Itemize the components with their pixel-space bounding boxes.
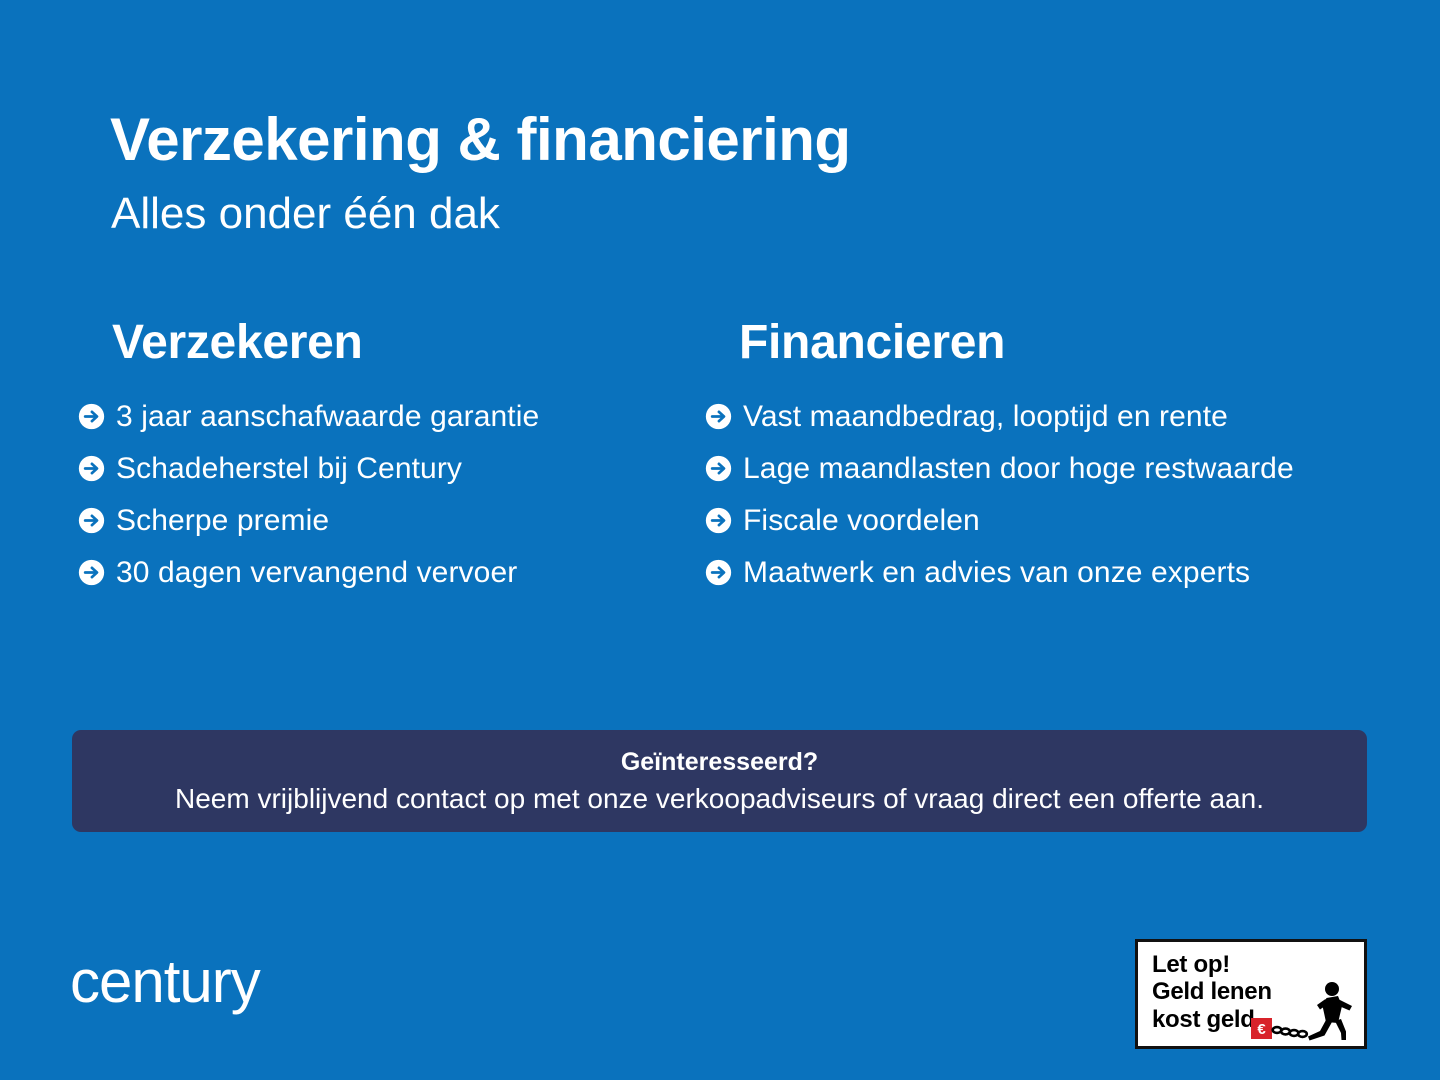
column-verzekeren: Verzekeren 3 jaar aanschafwaarde garanti…: [78, 318, 698, 598]
arrow-right-circle-icon: [705, 559, 732, 586]
arrow-right-circle-icon: [705, 455, 732, 482]
money-chain-walker-icon: €: [1246, 978, 1358, 1042]
list-item-label: Maatwerk en advies van onze experts: [743, 556, 1250, 589]
column-heading-verzekeren: Verzekeren: [112, 318, 698, 368]
column-heading-financieren: Financieren: [739, 318, 1405, 368]
list-item-label: Lage maandlasten door hoge restwaarde: [743, 452, 1294, 485]
list-item: Schadeherstel bij Century: [78, 442, 698, 494]
bullet-list-verzekeren: 3 jaar aanschafwaarde garantie Schadeher…: [78, 390, 698, 598]
list-item-label: Vast maandbedrag, looptijd en rente: [743, 400, 1228, 433]
list-item-label: 3 jaar aanschafwaarde garantie: [116, 400, 539, 433]
credit-warning-inner: Let op! Geld lenen kost geld €: [1138, 942, 1364, 1046]
page-title: Verzekering & financiering: [110, 108, 851, 171]
svg-text:€: €: [1257, 1021, 1266, 1038]
credit-warning-badge: Let op! Geld lenen kost geld €: [1135, 939, 1367, 1049]
cta-banner: Geïnteresseerd? Neem vrijblijvend contac…: [72, 730, 1367, 832]
list-item: Scherpe premie: [78, 494, 698, 546]
column-financieren: Financieren Vast maandbedrag, looptijd e…: [705, 318, 1405, 598]
list-item: Fiscale voordelen: [705, 494, 1405, 546]
list-item: Vast maandbedrag, looptijd en rente: [705, 390, 1405, 442]
bullet-list-financieren: Vast maandbedrag, looptijd en rente Lage…: [705, 390, 1405, 598]
arrow-right-circle-icon: [705, 403, 732, 430]
list-item: Maatwerk en advies van onze experts: [705, 546, 1405, 598]
arrow-right-circle-icon: [78, 559, 105, 586]
arrow-right-circle-icon: [78, 403, 105, 430]
credit-warning-line-1: Let op!: [1152, 951, 1272, 978]
cta-title: Geïnteresseerd?: [621, 747, 818, 777]
arrow-right-circle-icon: [78, 455, 105, 482]
century-logo: century: [70, 952, 260, 1012]
page-subtitle: Alles onder één dak: [111, 190, 500, 238]
list-item-label: Scherpe premie: [116, 504, 329, 537]
list-item-label: Fiscale voordelen: [743, 504, 980, 537]
cta-body-text: Neem vrijblijvend contact op met onze ve…: [175, 782, 1264, 816]
arrow-right-circle-icon: [78, 507, 105, 534]
arrow-right-circle-icon: [705, 507, 732, 534]
list-item: 30 dagen vervangend vervoer: [78, 546, 698, 598]
list-item: 3 jaar aanschafwaarde garantie: [78, 390, 698, 442]
list-item: Lage maandlasten door hoge restwaarde: [705, 442, 1405, 494]
list-item-label: 30 dagen vervangend vervoer: [116, 556, 517, 589]
slide-canvas: Verzekering & financiering Alles onder é…: [0, 0, 1440, 1080]
list-item-label: Schadeherstel bij Century: [116, 452, 462, 485]
